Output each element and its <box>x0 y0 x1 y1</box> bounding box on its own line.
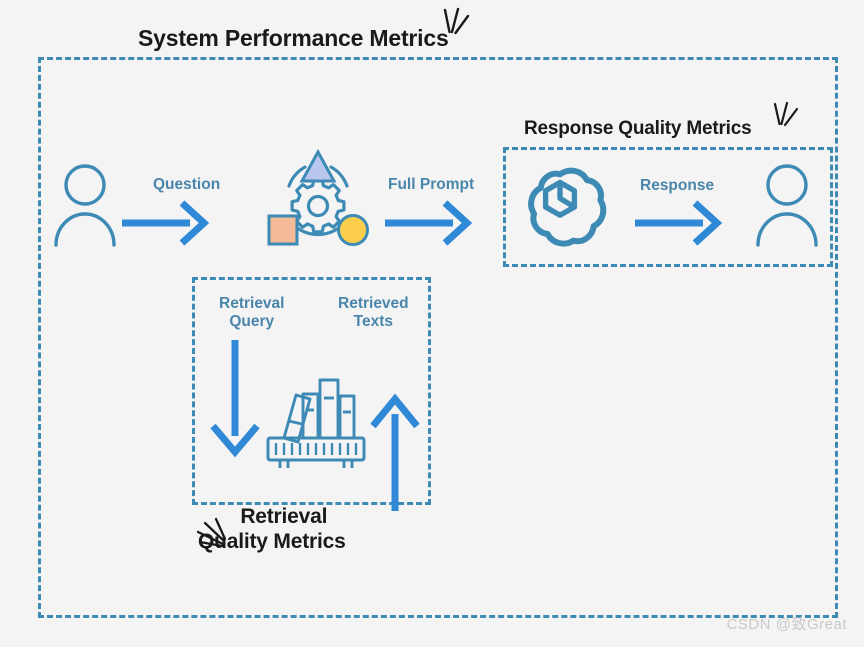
page-title: System Performance Metrics <box>138 25 449 52</box>
user-right-icon <box>755 163 819 247</box>
user-left-icon <box>53 163 117 247</box>
arrow-retrieval-query-down <box>208 338 262 460</box>
label-retrieved-texts: Retrieved Texts <box>338 295 409 332</box>
sparkle-icon <box>768 100 802 134</box>
retrieval-section-title: Retrieval Quality Metrics <box>222 505 346 555</box>
arrow-response <box>633 198 723 248</box>
sparkle-icon <box>196 518 238 556</box>
label-full-prompt: Full Prompt <box>388 176 474 194</box>
label-retrieval-query-line2: Query <box>229 313 274 330</box>
retrieval-section-title-line1: Retrieval <box>240 505 327 528</box>
label-retrieved-texts-line1: Retrieved <box>338 295 409 312</box>
label-response: Response <box>640 177 714 195</box>
openai-logo-icon <box>512 158 608 256</box>
label-retrieval-query: Retrieval Query <box>219 295 284 332</box>
arrow-retrieved-texts-up <box>368 388 422 513</box>
bookshelf-icon <box>262 358 370 468</box>
label-question: Question <box>153 176 220 194</box>
system-performance-boundary <box>38 57 838 618</box>
watermark: CSDN @致Great <box>727 613 847 634</box>
arrow-question <box>120 198 210 248</box>
arrow-full-prompt <box>383 198 473 248</box>
label-retrieval-query-line1: Retrieval <box>219 295 284 312</box>
sparkle-icon <box>437 6 473 42</box>
diagram-canvas: System Performance Metrics Question <box>0 0 864 647</box>
label-retrieved-texts-line2: Texts <box>354 313 393 330</box>
response-section-title: Response Quality Metrics <box>524 118 752 140</box>
gear-process-icon <box>265 150 371 252</box>
